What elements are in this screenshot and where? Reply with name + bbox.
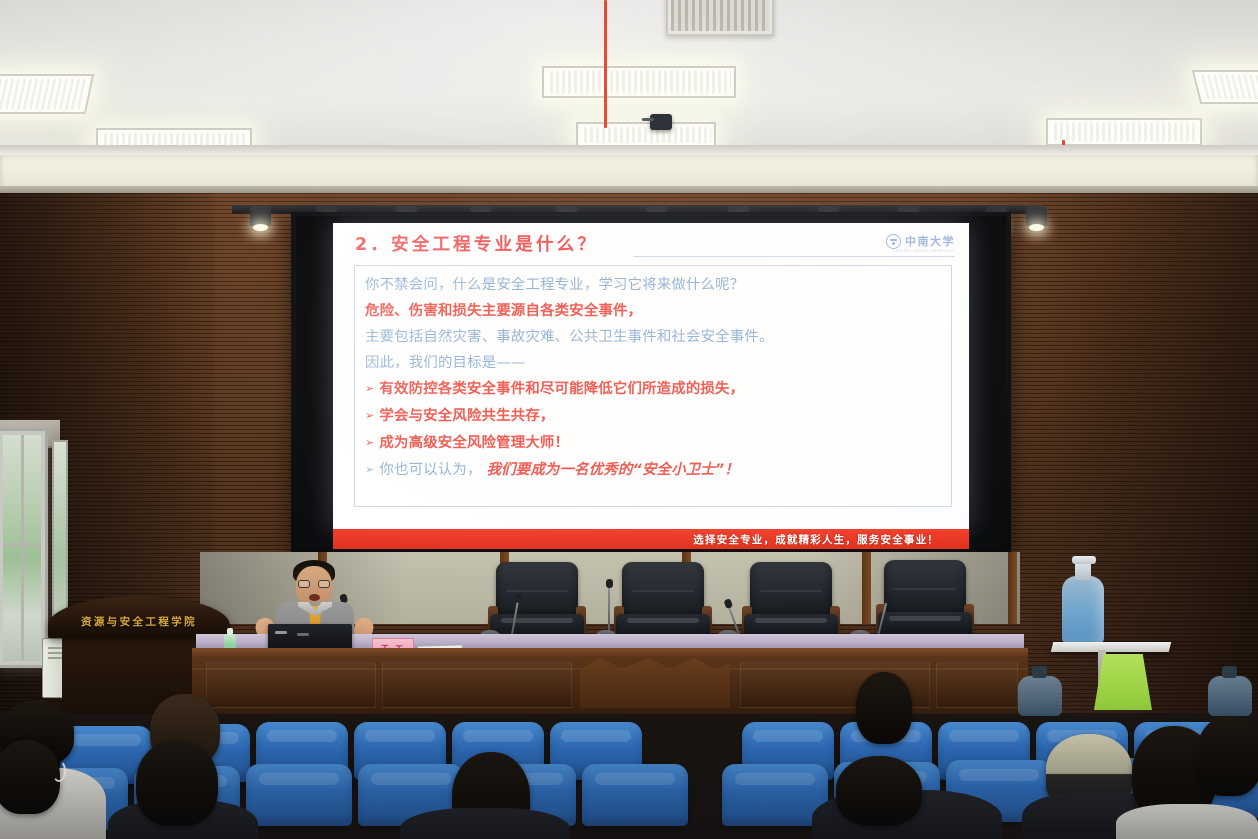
lectern-sign-text: 资源与安全工程学院 [81, 614, 197, 629]
green-chair [1094, 654, 1152, 710]
water-pump-icon[interactable] [1072, 556, 1096, 564]
audience-head [836, 756, 922, 826]
bullet-arrow-icon: ➢ [365, 403, 374, 429]
slide-bullet: ➢ 成为高级安全风险管理大师！ [365, 430, 941, 457]
table-decor-chevron [580, 658, 730, 708]
ceiling-panel-light [542, 66, 736, 98]
spotlight-icon [250, 206, 271, 226]
audience-head [0, 740, 60, 814]
audience-head [136, 740, 218, 826]
face-mask-strap-icon [52, 760, 66, 782]
slide-bullet-text: 有效防控各类安全事件和尽可能降低它们所造成的损失， [379, 376, 744, 402]
university-logo-subtitle: CENTRAL SOUTH UNIVERSITY [893, 249, 955, 253]
slide-bullet: ➢ 你也可以认为， 我们要成为一名优秀的“安全小卫士”！ [365, 457, 941, 484]
slide-line: 危险、伤害和损失主要源自各类安全事件， [365, 298, 941, 324]
slide-bullet-text: 学会与安全风险共生共存， [379, 403, 554, 429]
lecture-hall-photo: 2．安全工程专业是什么？ 中南大学 CENTRAL SOUTH UNIVERSI… [0, 0, 1258, 839]
slide-bullet: ➢ 学会与安全风险共生共存， [365, 403, 941, 430]
audience-shoulders [400, 808, 570, 839]
audience-head [856, 672, 912, 744]
slide-bullet-emphasis: 我们要成为一名优秀的“安全小卫士”！ [487, 457, 739, 483]
window-mullion [21, 435, 24, 661]
ceiling-vent-icon [666, 0, 774, 36]
slide-title: 2．安全工程专业是什么？ [355, 231, 598, 256]
university-emblem-icon [886, 234, 901, 249]
table-front-panel [206, 662, 376, 708]
soffit-lip [0, 145, 1258, 155]
slide-line: 你不禁会问，什么是安全工程专业，学习它将来做什么呢？ [365, 272, 941, 298]
bullet-arrow-icon: ➢ [365, 430, 374, 456]
slide-bullet: ➢ 有效防控各类安全事件和尽可能降低它们所造成的损失， [365, 376, 941, 403]
university-logo: 中南大学 [886, 233, 955, 249]
bullet-arrow-icon: ➢ [365, 457, 374, 483]
university-logo-text: 中南大学 [905, 233, 955, 249]
table-front-panel [382, 662, 572, 708]
presentation-slide: 2．安全工程专业是什么？ 中南大学 CENTRAL SOUTH UNIVERSI… [333, 223, 969, 529]
floor-water-jug [1018, 676, 1062, 716]
table-front-panel [936, 662, 1018, 708]
logo-underline [633, 256, 955, 257]
audience-seat [246, 764, 352, 826]
audience-seat [582, 764, 688, 826]
water-jug-neck [1075, 562, 1091, 580]
red-ribbon [604, 0, 607, 128]
window [0, 428, 48, 668]
slide-line: 因此，我们的目标是—— [365, 350, 941, 376]
eyeglasses-icon [298, 580, 330, 588]
audience-head [1196, 716, 1258, 796]
lectern-sign-plate: 资源与安全工程学院 [48, 596, 230, 638]
slide-bullet-text: 成为高级安全风险管理大师！ [379, 430, 569, 456]
ceiling-panel-light [1192, 70, 1258, 104]
ceiling-camera-icon [650, 114, 672, 130]
slide-line: 主要包括自然灾害、事故灾难、公共卫生事件和社会安全事件。 [365, 324, 941, 350]
slide-footer-banner-text: 选择安全专业，成就精彩人生，服务安全事业！ [693, 532, 939, 547]
speaker-mouth [309, 594, 320, 601]
slide-content-box: 你不禁会问，什么是安全工程专业，学习它将来做什么呢？ 危险、伤害和损失主要源自各… [354, 265, 952, 507]
ceiling-panel-light [1046, 118, 1202, 146]
window-mullion [3, 543, 41, 546]
water-jug [1062, 576, 1104, 644]
side-table [1051, 642, 1171, 652]
stage-post [862, 552, 871, 624]
stage-post [1008, 552, 1017, 624]
floor-water-jug [1208, 676, 1252, 716]
spotlight-icon [1026, 206, 1047, 226]
slide-bullet-text: 你也可以认为， [379, 457, 481, 483]
bullet-arrow-icon: ➢ [365, 376, 374, 402]
slide-footer-banner: 选择安全专业，成就精彩人生，服务安全事业！ [333, 529, 969, 549]
ceiling-panel-light [0, 74, 94, 114]
audience-shoulders [1116, 804, 1258, 839]
